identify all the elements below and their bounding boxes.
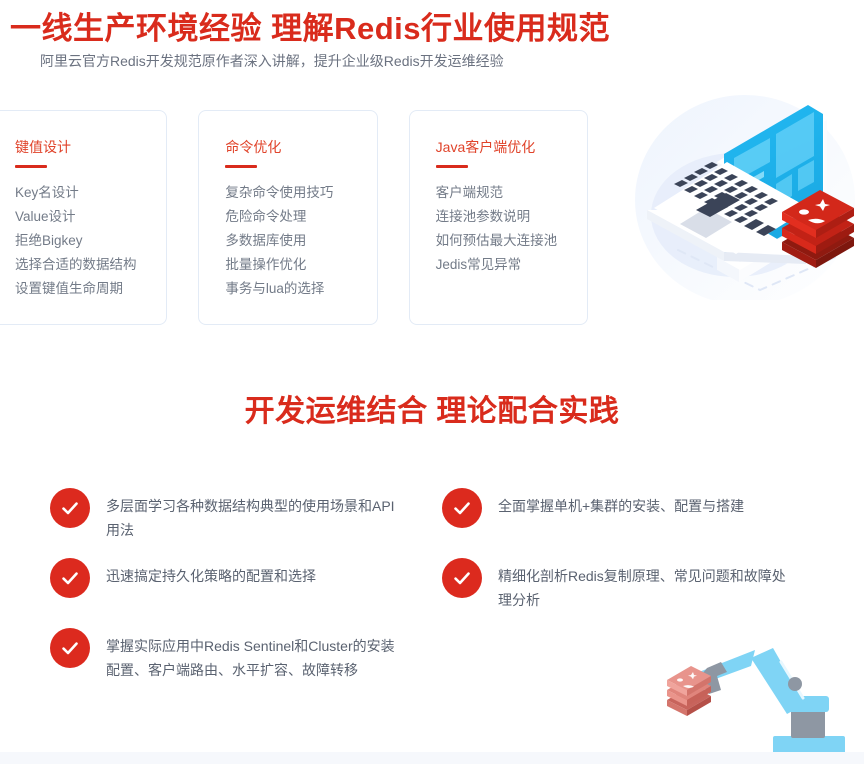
benefit-item: 全面掌握单机+集群的安装、配置与搭建 — [442, 488, 744, 528]
bottom-band — [0, 752, 864, 764]
card-item: 批量操作优化 — [225, 253, 376, 277]
card-item: Key名设计 — [15, 181, 166, 205]
card-item: 复杂命令使用技巧 — [225, 181, 376, 205]
benefits-column-left: 多层面学习各种数据结构典型的使用场景和API用法 迅速搞定持久化策略的配置和选择… — [0, 488, 432, 708]
benefit-item: 精细化剖析Redis复制原理、常见问题和故障处理分析 — [442, 558, 798, 612]
benefit-item: 迅速搞定持久化策略的配置和选择 — [50, 558, 316, 598]
check-circle-icon — [50, 558, 90, 598]
card-title: 命令优化 — [225, 137, 376, 157]
card-item: 危险命令处理 — [225, 205, 376, 229]
feature-card-0[interactable]: 键值设计 Key名设计 Value设计 拒绝Bigkey 选择合适的数据结构 设… — [0, 110, 167, 325]
card-underline-rule — [225, 165, 257, 168]
card-underline-rule — [436, 165, 468, 168]
benefit-text: 掌握实际应用中Redis Sentinel和Cluster的安装配置、客户端路由… — [106, 628, 406, 682]
card-item: 拒绝Bigkey — [15, 229, 166, 253]
feature-card-1[interactable]: 命令优化 复杂命令使用技巧 危险命令处理 多数据库使用 批量操作优化 事务与lu… — [198, 110, 377, 325]
benefit-text: 迅速搞定持久化策略的配置和选择 — [106, 558, 316, 588]
check-circle-icon — [442, 488, 482, 528]
section-two-title: 开发运维结合 理论配合实践 — [0, 392, 864, 432]
laptop-redis-illustration — [600, 50, 864, 300]
benefits-grid: 多层面学习各种数据结构典型的使用场景和API用法 迅速搞定持久化策略的配置和选择… — [0, 488, 864, 708]
card-item: 客户端规范 — [436, 181, 587, 205]
card-item: Value设计 — [15, 205, 166, 229]
benefit-item: 多层面学习各种数据结构典型的使用场景和API用法 — [50, 488, 406, 542]
card-item: 连接池参数说明 — [436, 205, 587, 229]
feature-cards: 键值设计 Key名设计 Value设计 拒绝Bigkey 选择合适的数据结构 设… — [0, 110, 588, 325]
card-underline-rule — [15, 165, 47, 168]
card-item: 事务与lua的选择 — [225, 277, 376, 301]
benefit-text: 全面掌握单机+集群的安装、配置与搭建 — [498, 488, 744, 518]
card-title: 键值设计 — [15, 137, 166, 157]
benefit-item: 掌握实际应用中Redis Sentinel和Cluster的安装配置、客户端路由… — [50, 628, 406, 682]
card-item: 如何预估最大连接池 — [436, 229, 587, 253]
card-item: 多数据库使用 — [225, 229, 376, 253]
card-item: 设置键值生命周期 — [15, 277, 166, 301]
check-circle-icon — [442, 558, 482, 598]
benefits-column-right: 全面掌握单机+集群的安装、配置与搭建 精细化剖析Redis复制原理、常见问题和故… — [432, 488, 864, 708]
card-item: 选择合适的数据结构 — [15, 253, 166, 277]
page-subtitle: 阿里云官方Redis开发规范原作者深入讲解，提升企业级Redis开发运维经验 — [40, 50, 504, 72]
landing-page: 一线生产环境经验 理解Redis行业使用规范 阿里云官方Redis开发规范原作者… — [0, 0, 864, 764]
feature-card-2[interactable]: Java客户端优化 客户端规范 连接池参数说明 如何预估最大连接池 Jedis常… — [409, 110, 588, 325]
page-title: 一线生产环境经验 理解Redis行业使用规范 — [10, 10, 610, 48]
check-circle-icon — [50, 488, 90, 528]
card-item: Jedis常见异常 — [436, 253, 587, 277]
benefit-text: 多层面学习各种数据结构典型的使用场景和API用法 — [106, 488, 406, 542]
check-circle-icon — [50, 628, 90, 668]
card-title: Java客户端优化 — [436, 137, 587, 157]
benefit-text: 精细化剖析Redis复制原理、常见问题和故障处理分析 — [498, 558, 798, 612]
